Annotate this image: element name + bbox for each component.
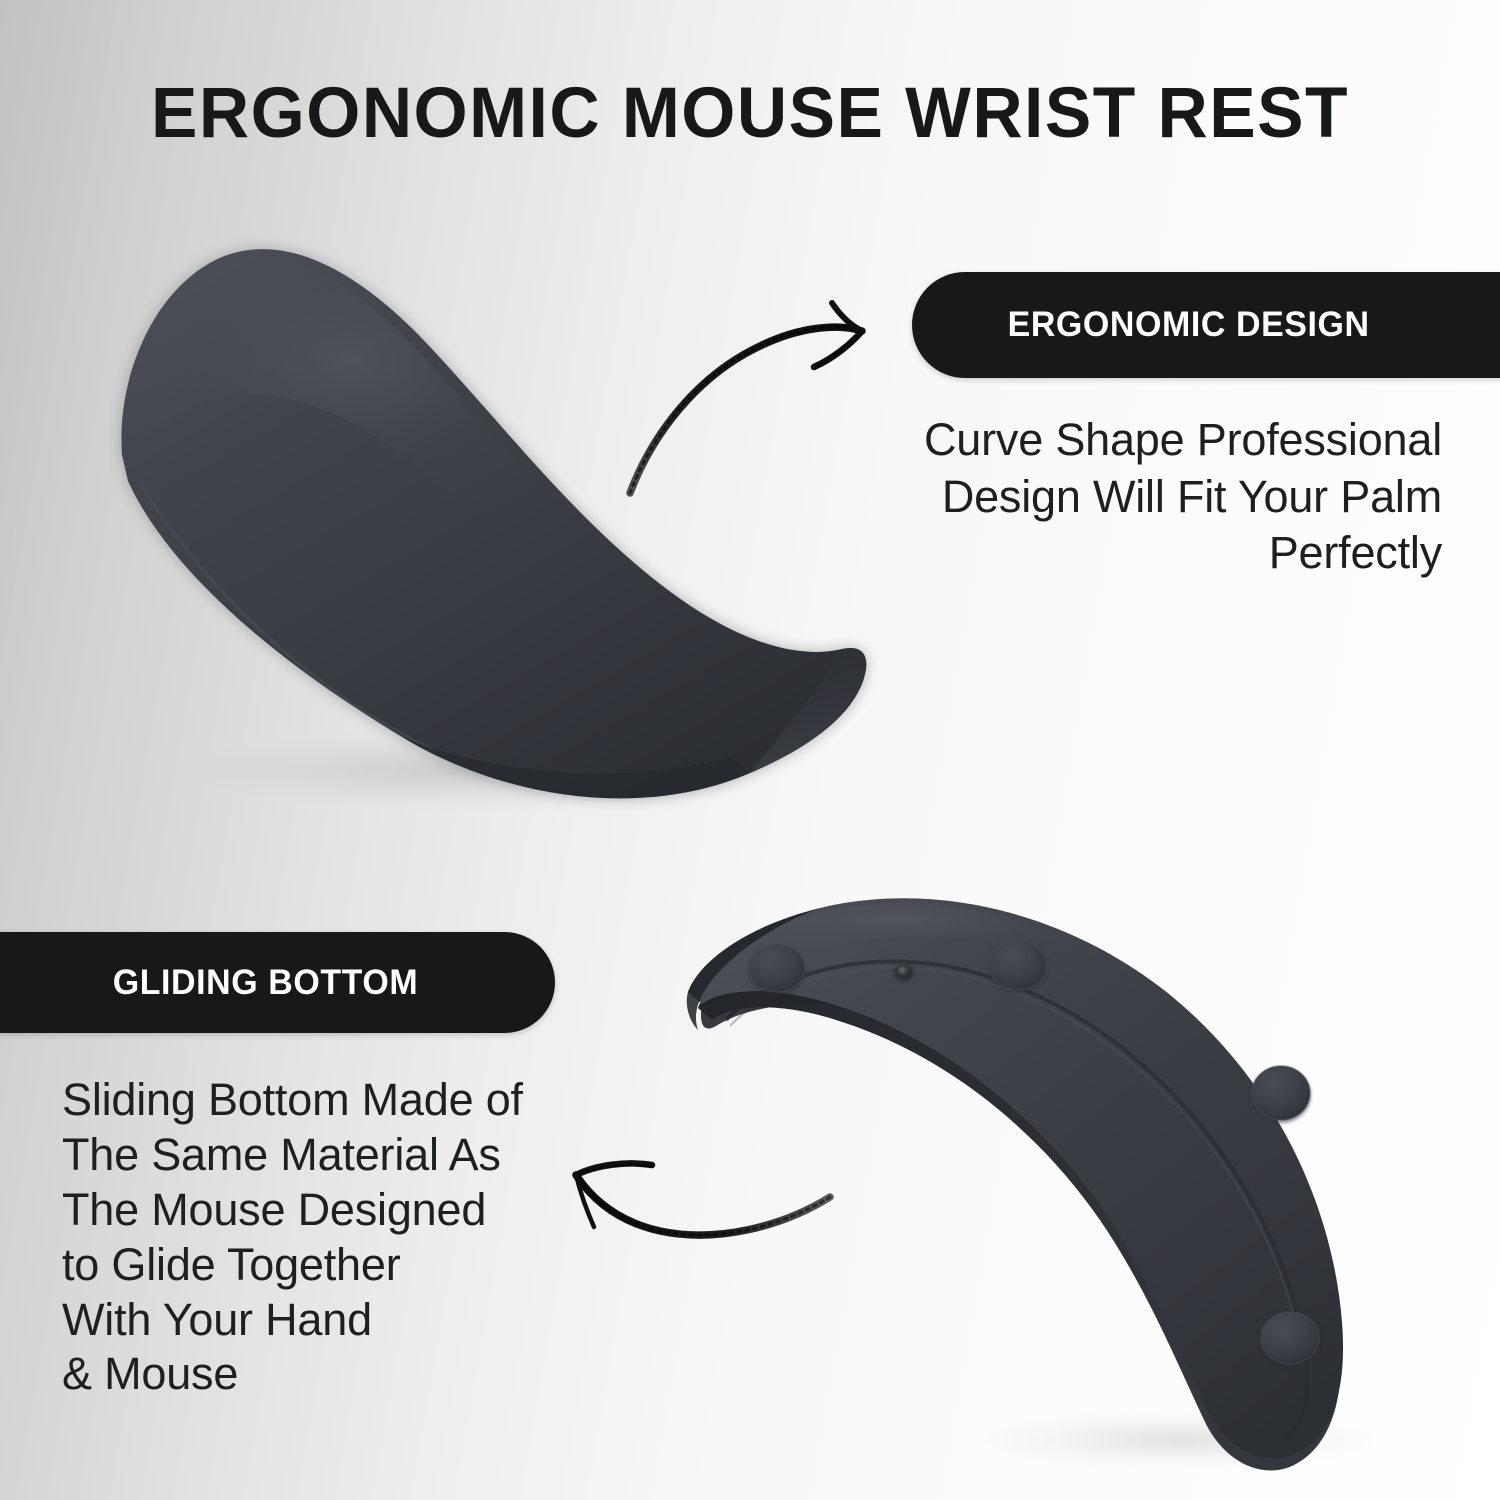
wrist-rest-bottom-view — [640, 880, 1500, 1480]
rubber-pad-group — [748, 940, 1320, 1367]
badge-gliding-bottom[interactable]: GLIDING BOTTOM — [0, 932, 555, 1033]
curved-arrow-up-right-icon — [600, 285, 930, 525]
ergonomic-description: Curve Shape Professional Design Will Fit… — [922, 412, 1442, 582]
gliding-description-line-4: to Glide Together — [62, 1238, 582, 1293]
badge-gliding-bottom-label: GLIDING BOTTOM — [113, 963, 419, 1003]
gliding-description-line-1: Sliding Bottom Made of — [62, 1073, 582, 1128]
ergonomic-description-line-3: Perfectly — [922, 525, 1442, 582]
wrist-rest-top-view — [60, 225, 890, 825]
infographic-canvas: ERGONOMIC MOUSE WRIST REST — [0, 0, 1500, 1500]
badge-ergonomic-design-label: ERGONOMIC DESIGN — [1008, 305, 1370, 345]
page-title: ERGONOMIC MOUSE WRIST REST — [15, 78, 1485, 149]
gliding-description-line-3: The Mouse Designed — [62, 1183, 582, 1238]
gliding-description-line-5: With Your Hand — [62, 1293, 582, 1348]
badge-ergonomic-design[interactable]: ERGONOMIC DESIGN — [912, 272, 1500, 378]
ergonomic-description-line-1: Curve Shape Professional — [922, 412, 1442, 469]
gliding-description: Sliding Bottom Made of The Same Material… — [62, 1073, 582, 1402]
vent-hole — [894, 964, 914, 982]
ergonomic-description-line-2: Design Will Fit Your Palm — [922, 469, 1442, 526]
gliding-description-line-2: The Same Material As — [62, 1128, 582, 1183]
gliding-description-line-6: & Mouse — [62, 1347, 582, 1402]
